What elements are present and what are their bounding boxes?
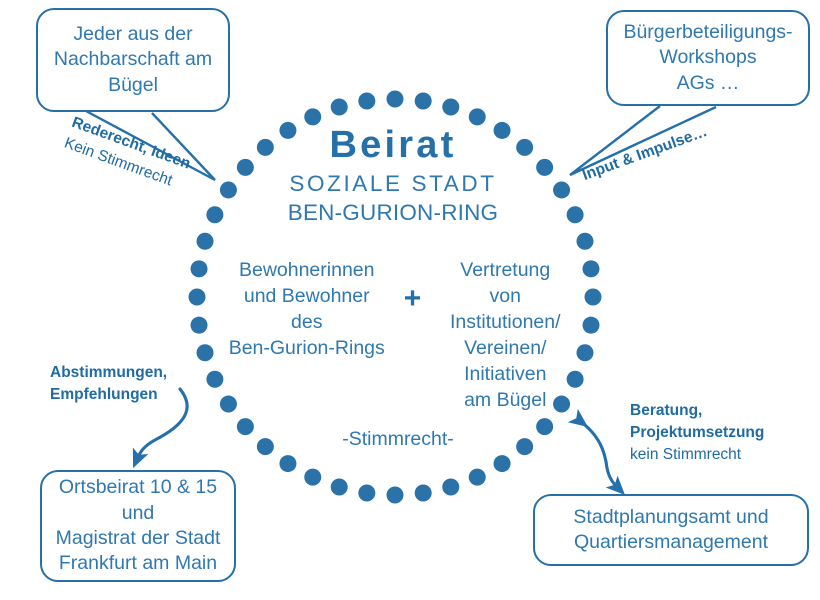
callout-neighbourhood-line-2: Nachbarschaft am (54, 47, 212, 72)
callout-stadtplanungsamt-line-2: Quartiersmanagement (574, 530, 768, 555)
residents-line-1: Bewohnerinnen (218, 258, 396, 284)
ring-dot (189, 289, 206, 306)
diagram-canvas: Jeder aus der Nachbarschaft am Bügel Bür… (0, 0, 820, 600)
callout-ortsbeirat-line-1: Ortsbeirat 10 & 15 (59, 475, 217, 500)
ring-dot (197, 344, 214, 361)
ring-dot (469, 108, 486, 125)
ring-dot (442, 478, 459, 495)
ring-dot (494, 455, 511, 472)
members-group-institutions: Vertretung von Institutionen/ Vereinen/ … (429, 258, 581, 414)
callout-ortsbeirat-line-4: Frankfurt am Main (59, 551, 217, 576)
diagram-subtitle-2: BEN-GURION-RING (243, 202, 543, 225)
ring-dot (331, 99, 348, 116)
ring-dot (257, 438, 274, 455)
ring-dot (567, 206, 584, 223)
callout-workshops[interactable]: Bürgerbeteiligungs- Workshops AGs … (606, 10, 810, 106)
annotation-beratung-bold-2: Projektumsetzung (630, 422, 764, 444)
ring-dot (516, 438, 533, 455)
residents-line-4: Ben-Gurion-Rings (218, 336, 396, 362)
ring-dot (387, 91, 404, 108)
callout-workshops-line-2: Workshops (659, 45, 756, 70)
members-group-residents: Bewohnerinnen und Bewohner des Ben-Gurio… (218, 258, 396, 362)
ring-dot (304, 469, 321, 486)
ring-dot (536, 418, 553, 435)
callout-workshops-line-1: Bürgerbeteiligungs- (623, 20, 792, 45)
annotation-abstimmungen-bold-2: Empfehlungen (50, 384, 167, 406)
ring-dot (279, 455, 296, 472)
ring-dot (387, 487, 404, 504)
institutions-line-1: Vertretung (429, 258, 581, 284)
ring-dot (358, 484, 375, 501)
ring-dot (197, 233, 214, 250)
diagram-subtitle-1: SOZIALE STADT (243, 173, 543, 196)
callout-workshops-line-3: AGs … (677, 71, 740, 96)
institutions-line-6: am Bügel (429, 388, 581, 414)
annotation-beratung-bold-1: Beratung, (630, 400, 764, 422)
members-row: Bewohnerinnen und Bewohner des Ben-Gurio… (212, 258, 587, 414)
arrow-stadtplanungsamt (580, 421, 618, 488)
callout-neighbourhood-line-1: Jeder aus der (73, 22, 192, 47)
ring-dot (576, 233, 593, 250)
annotation-beratung-plain: kein Stimmrecht (630, 444, 764, 466)
callout-stadtplanungsamt-line-1: Stadtplanungsamt und (573, 505, 768, 530)
residents-line-2: und Bewohner (218, 284, 396, 310)
ring-dot (585, 289, 602, 306)
ring-dot (415, 484, 432, 501)
institutions-line-2: von (429, 284, 581, 310)
annotation-abstimmungen-bold-1: Abstimmungen, (50, 362, 167, 384)
ring-dot (415, 93, 432, 110)
center-title-block: Beirat SOZIALE STADT BEN-GURION-RING (243, 126, 543, 224)
ring-dot (191, 317, 208, 334)
diagram-title: Beirat (243, 126, 543, 164)
ring-dot (469, 469, 486, 486)
annotation-beratung: Beratung, Projektumsetzung kein Stimmrec… (630, 400, 764, 466)
callout-stadtplanungsamt[interactable]: Stadtplanungsamt und Quartiersmanagement (533, 494, 809, 566)
institutions-line-5: Initiativen (429, 362, 581, 388)
institutions-line-4: Vereinen/ (429, 336, 581, 362)
ring-dot (220, 181, 237, 198)
ring-dot (237, 418, 254, 435)
ring-dot (206, 206, 223, 223)
ring-dot (331, 478, 348, 495)
callout-ortsbeirat[interactable]: Ortsbeirat 10 & 15 und Magistrat der Sta… (40, 470, 236, 582)
ring-dot (304, 108, 321, 125)
ring-dot (442, 99, 459, 116)
residents-line-3: des (218, 310, 396, 336)
ring-dot (358, 93, 375, 110)
annotation-abstimmungen: Abstimmungen, Empfehlungen (50, 362, 167, 407)
callout-ortsbeirat-line-3: Magistrat der Stadt (56, 526, 221, 551)
ring-dot (553, 181, 570, 198)
voting-note: -Stimmrecht- (298, 428, 498, 451)
ring-dot (191, 260, 208, 277)
callout-neighbourhood-line-3: Bügel (108, 73, 158, 98)
callout-ortsbeirat-line-2: und (122, 501, 155, 526)
institutions-line-3: Institutionen/ (429, 310, 581, 336)
callout-neighbourhood[interactable]: Jeder aus der Nachbarschaft am Bügel (36, 8, 230, 112)
plus-icon: + (396, 258, 430, 314)
